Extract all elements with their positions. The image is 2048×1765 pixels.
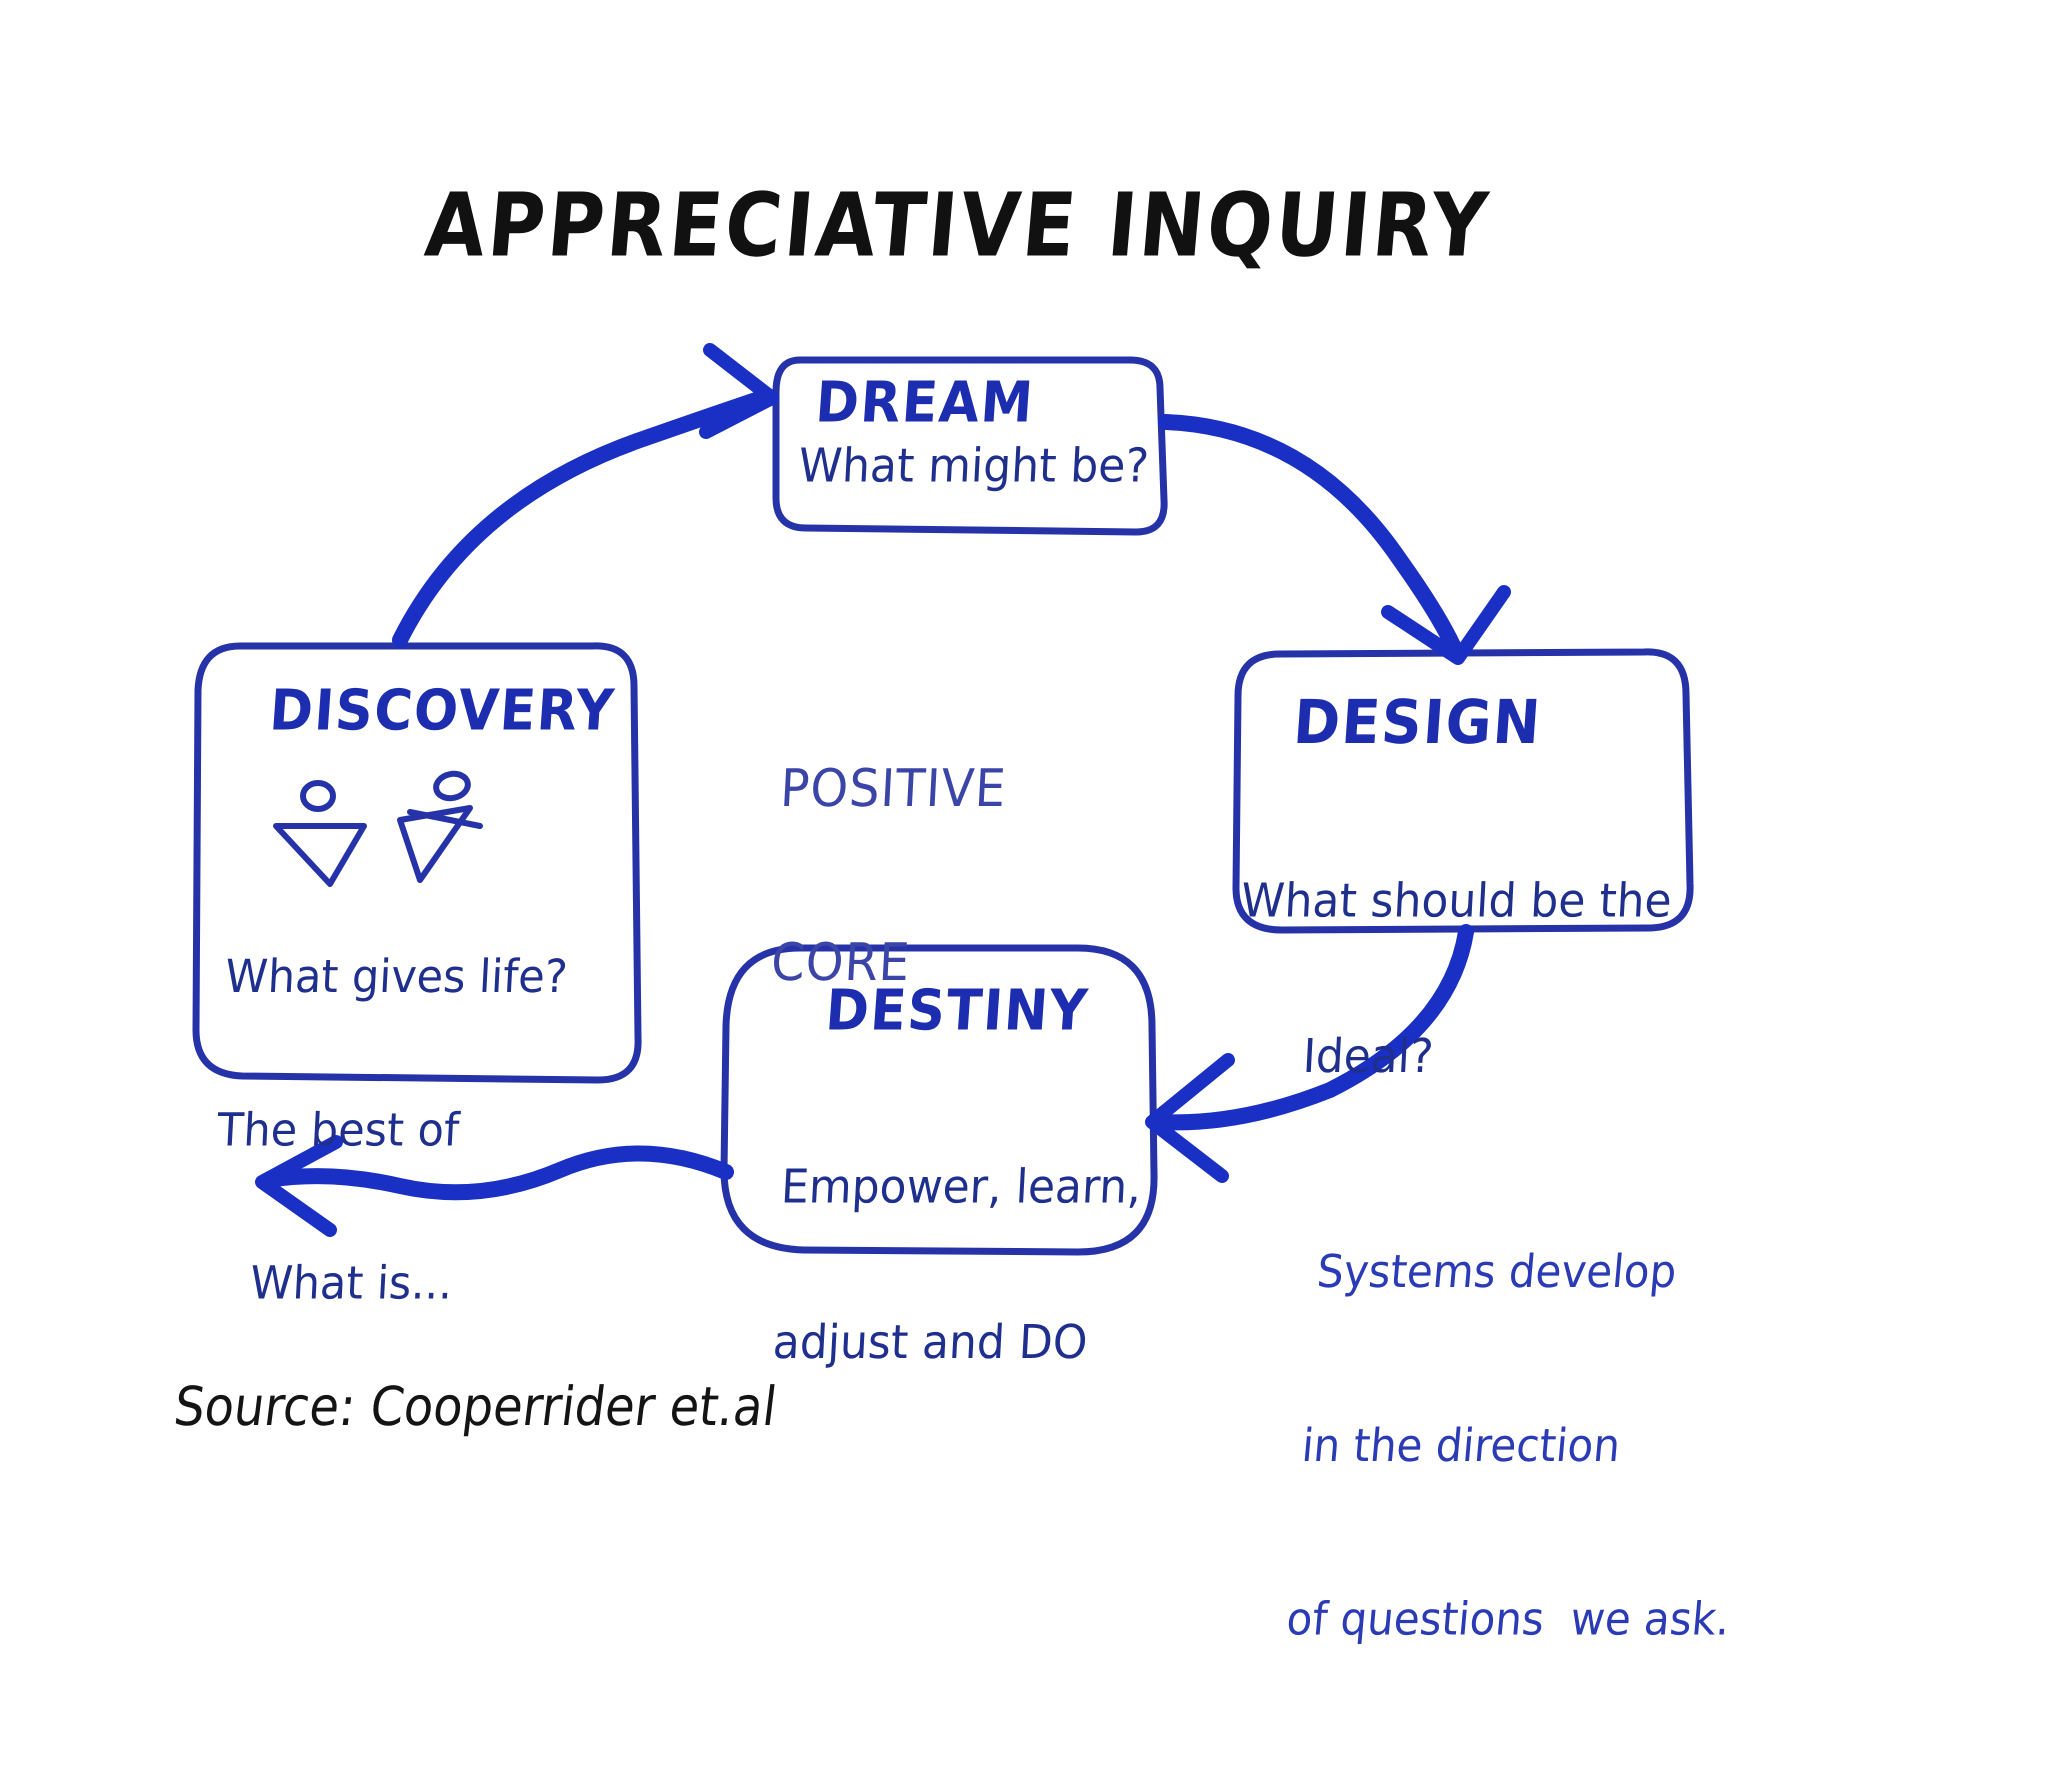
node-title-dream: DREAM xyxy=(814,372,1037,435)
positive-core-line-1: POSITIVE xyxy=(779,760,1008,818)
node-body-discovery: What gives life? The best of What is... xyxy=(203,850,575,1412)
annotation-systems-develop: Systems develop in the direction of ques… xyxy=(1274,1126,1773,1765)
source-attribution: Source: Cooperrider et.al xyxy=(171,1378,780,1438)
node-body-dream: What might be? xyxy=(797,440,1150,492)
discovery-body-line-3: What is... xyxy=(208,1258,553,1309)
node-title-design: DESIGN xyxy=(1291,690,1543,758)
discovery-body-line-2: The best of xyxy=(216,1105,561,1156)
destiny-body-line-2: adjust and DO xyxy=(772,1317,1135,1369)
diagram-canvas: APPRECIATIVE INQUIRY DREAM What might be… xyxy=(0,0,2048,1536)
side-note-line-1: Systems develop xyxy=(1315,1242,1763,1300)
destiny-body-line-1: Empower, learn, xyxy=(780,1160,1143,1212)
node-body-destiny: Empower, learn, adjust and DO xyxy=(766,1056,1148,1474)
center-label-positive-core: POSITIVE CORE xyxy=(764,644,1014,1108)
design-body-line-1: What should be the xyxy=(1240,874,1673,926)
side-note-line-2: in the direction xyxy=(1300,1416,1748,1474)
positive-core-line-2: CORE xyxy=(770,934,999,992)
arrow-dream-to-design xyxy=(1166,422,1504,658)
page-title: APPRECIATIVE INQUIRY xyxy=(421,178,1493,276)
node-title-discovery: DISCOVERY xyxy=(268,680,617,743)
design-body-line-2: Ideal? xyxy=(1232,1031,1665,1083)
side-note-line-3: of questions we ask. xyxy=(1284,1590,1732,1648)
arrow-discovery-to-dream xyxy=(400,350,772,640)
discovery-body-line-1: What gives life? xyxy=(224,952,569,1003)
